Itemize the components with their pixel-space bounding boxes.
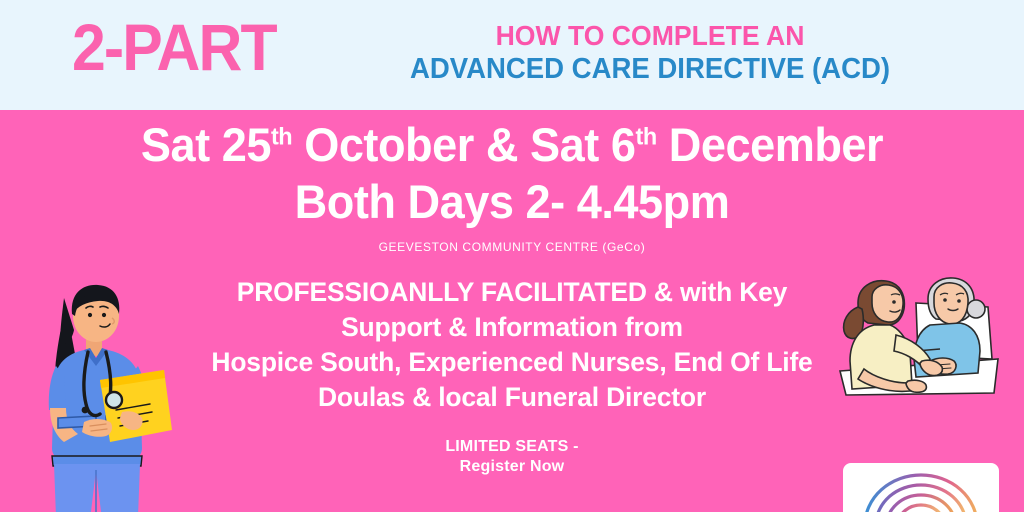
rainbow-icon [859, 471, 983, 512]
flyer-poster: 2-PART HOW TO COMPLETE AN ADVANCED CARE … [0, 0, 1024, 512]
event-dates: Sat 25th October & Sat 6th December Both… [0, 116, 1024, 231]
date-line-2: Both Days 2- 4.45pm [20, 173, 1003, 230]
headline-primary: HOW TO COMPLETE AN [394, 22, 907, 51]
date-line-1: Sat 25th October & Sat 6th December [20, 116, 1003, 173]
date-ordinal-suffix-1: th [271, 123, 292, 150]
venue-text: GEEVESTON COMMUNITY CENTRE (GeCo) [0, 240, 1024, 254]
part-badge: 2-PART [72, 14, 276, 80]
date-line-1-mid: October & Sat 6 [292, 118, 635, 171]
date-ordinal-suffix-2: th [635, 123, 656, 150]
body-band: Sat 25th October & Sat 6th December Both… [0, 110, 1024, 512]
bedside-illustration [812, 273, 1012, 403]
nurse-illustration [22, 270, 172, 512]
date-line-1-post: December [657, 118, 883, 171]
header-title-group: HOW TO COMPLETE AN ADVANCED CARE DIRECTI… [380, 22, 920, 84]
headline-secondary: ADVANCED CARE DIRECTIVE (ACD) [394, 55, 907, 85]
date-line-1-pre: Sat 25 [141, 118, 271, 171]
header-band: 2-PART HOW TO COMPLETE AN ADVANCED CARE … [0, 0, 1024, 110]
cwc-logo-card: CWC Counselling, Wellbeing & Connection … [843, 463, 999, 512]
